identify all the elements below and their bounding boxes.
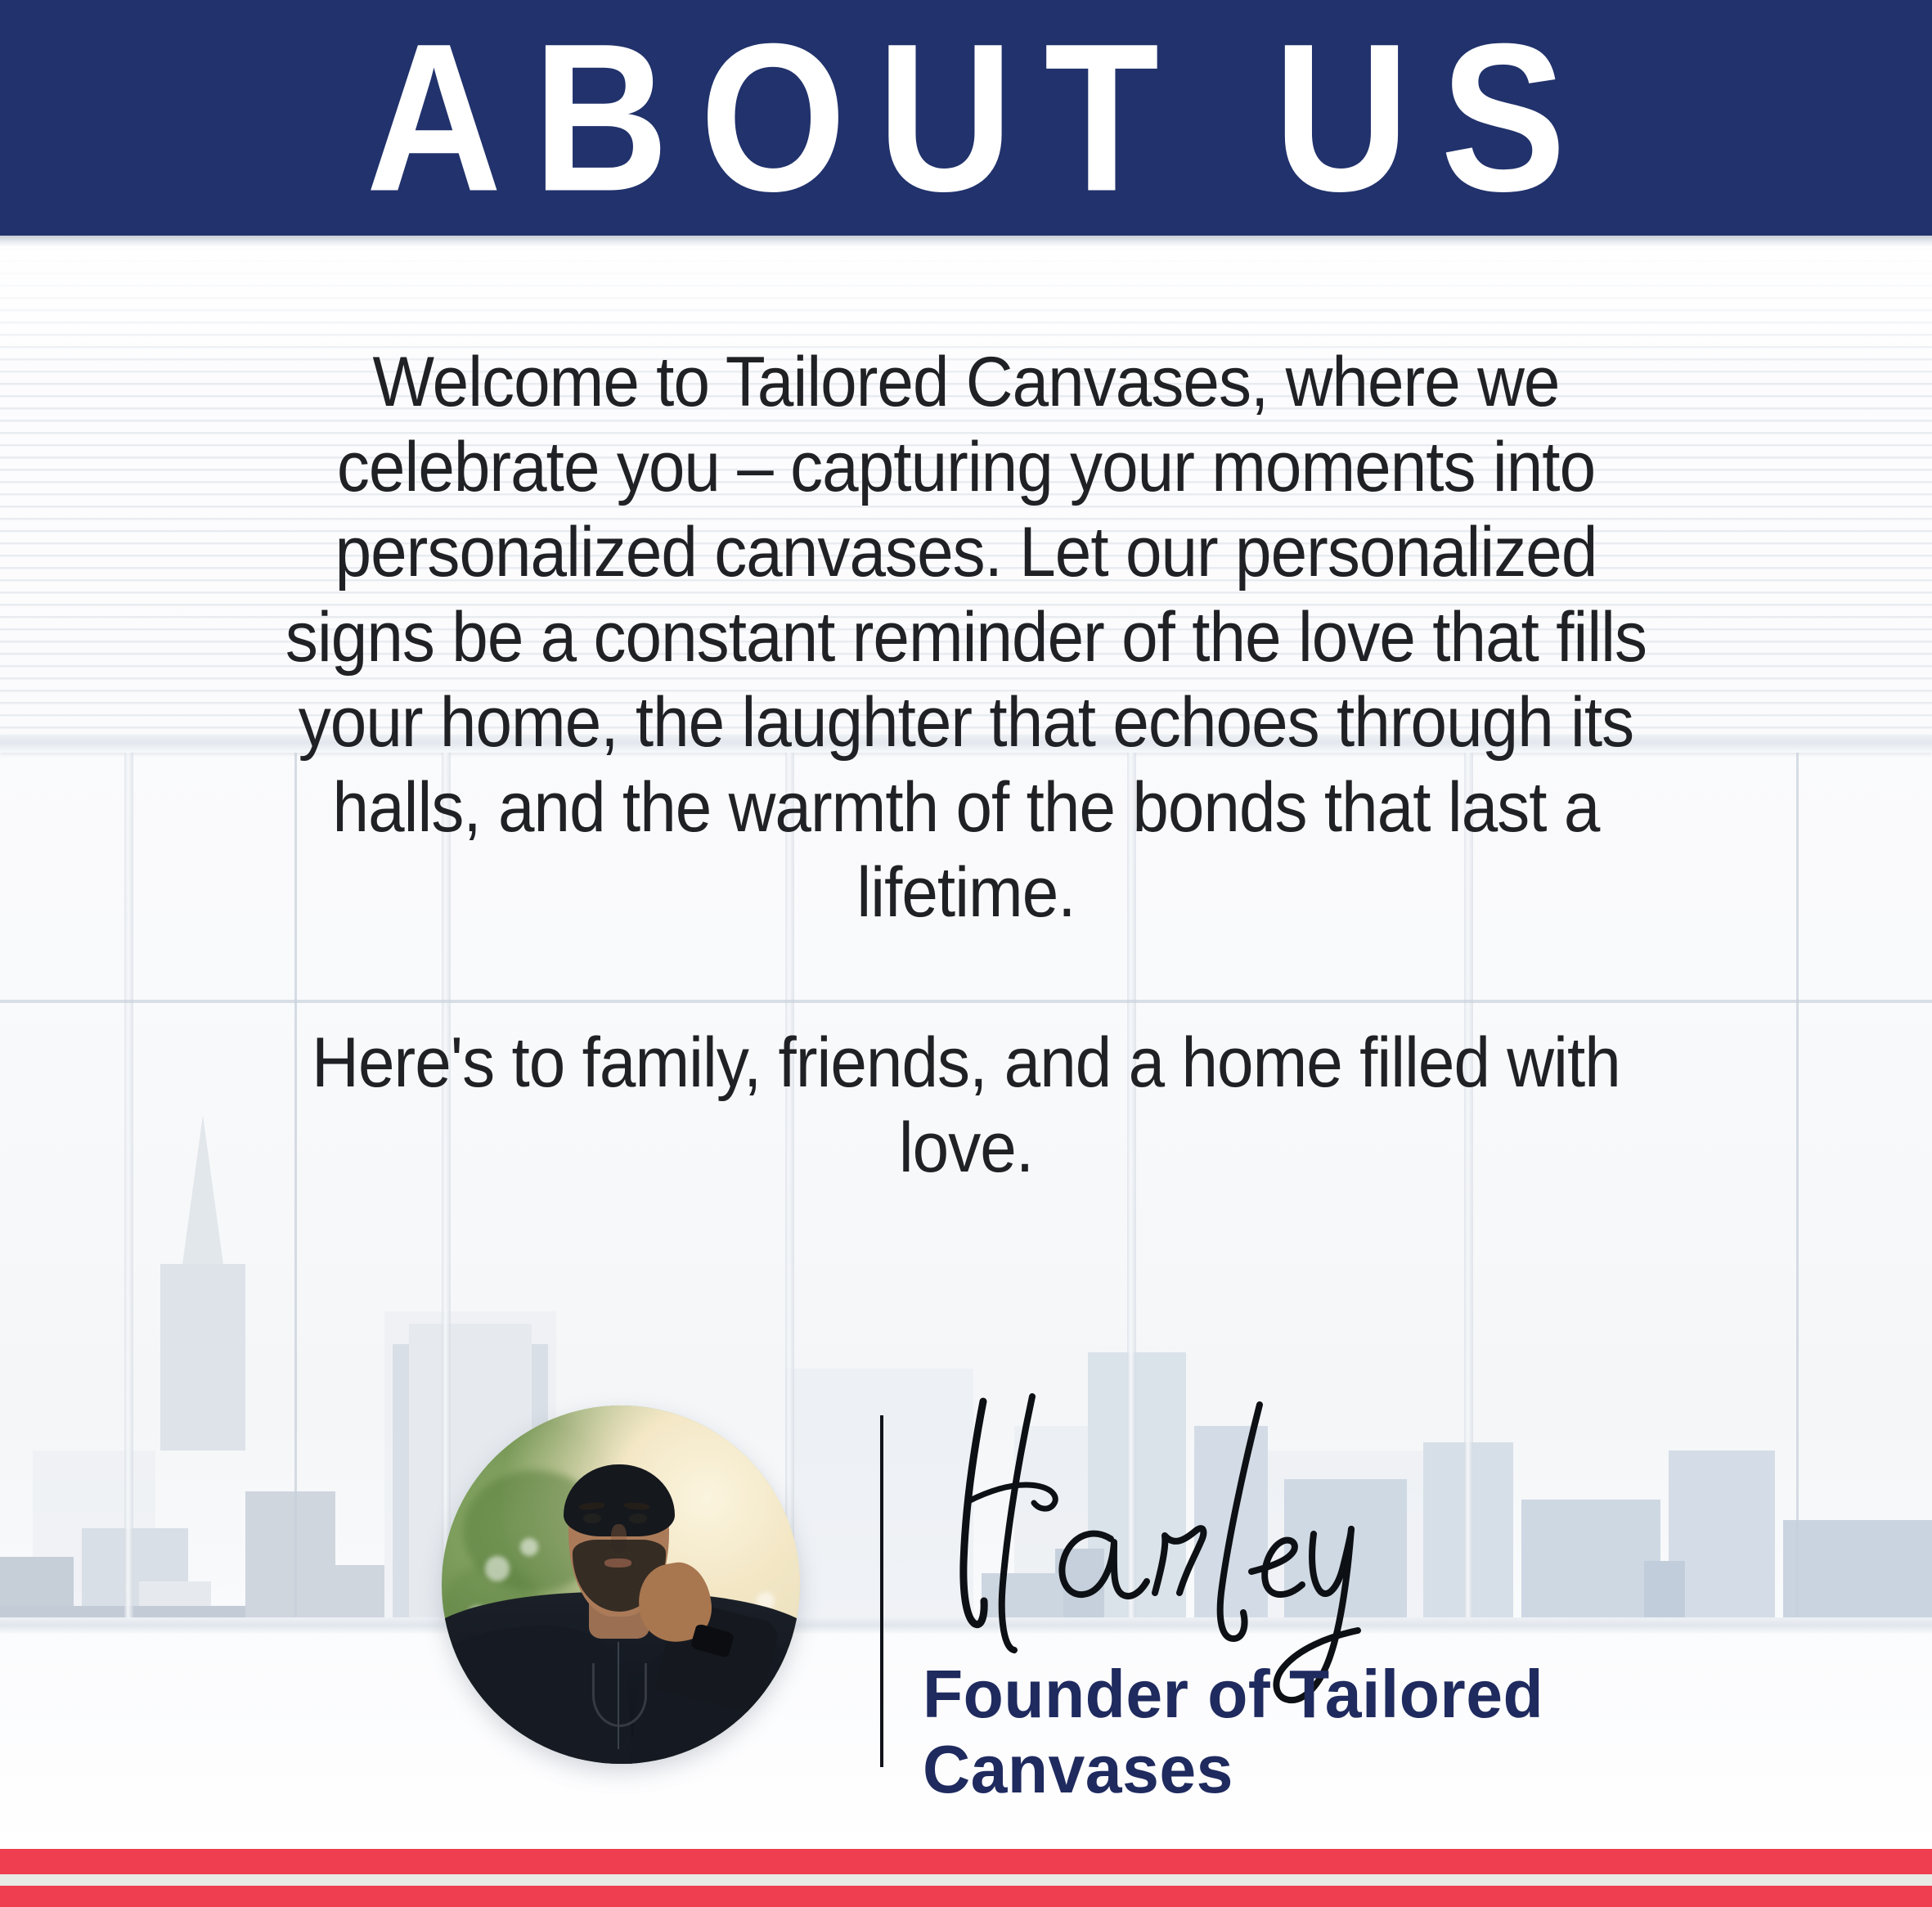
pyramid-base [160, 1264, 245, 1450]
signature-divider [880, 1415, 883, 1767]
about-paragraph-1: Welcome to Tailored Canvases, where we c… [281, 340, 1651, 935]
about-us-card: ABOUT US Welcome to Tailored Canvases, w… [0, 0, 1932, 1907]
pyramid-tower [182, 1115, 224, 1271]
footer-stripe-gap [0, 1874, 1932, 1886]
page-title: ABOUT US [335, 12, 1597, 223]
founder-portrait-avatar [442, 1406, 800, 1764]
about-paragraph-2: Here's to family, friends, and a home fi… [281, 1020, 1651, 1190]
footer-stripe-bottom [0, 1886, 1932, 1907]
paragraph-spacer [281, 935, 1651, 1020]
founder-block: Founder of Tailored Canvases [425, 1387, 1652, 1812]
about-body-copy: Welcome to Tailored Canvases, where we c… [281, 340, 1651, 1190]
footer-stripe-top [0, 1849, 1932, 1874]
header-underline [0, 236, 1932, 247]
founder-role: Founder of Tailored Canvases [923, 1657, 1573, 1807]
founder-role-line-1: Founder of Tailored [923, 1657, 1573, 1732]
header-banner: ABOUT US [0, 0, 1932, 236]
founder-role-line-2: Canvases [923, 1732, 1573, 1807]
